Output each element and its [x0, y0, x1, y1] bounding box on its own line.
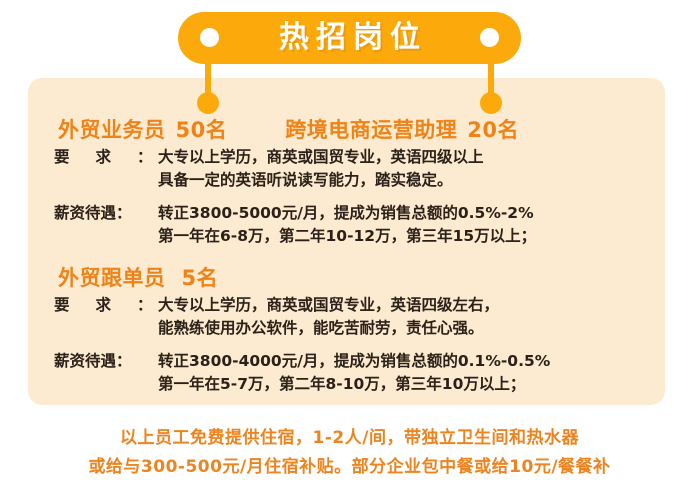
group-a-requirement-line-2: 具备一定的英语听说读写能力，踏实稳定。	[54, 169, 453, 192]
requirement-label-b: 要求：	[54, 294, 158, 317]
footer-line-2: 或给与300-500元/月住宿补贴。部分企业包中餐或给10元/餐餐补	[0, 453, 699, 482]
group-b-requirement-line-2: 能熟练使用办公软件，能吃苦耐劳，责任心强。	[54, 317, 484, 340]
salary-label-b-colon: ：	[116, 352, 132, 370]
salary-label-a-text: 薪资待遇	[54, 204, 116, 222]
group-a-salary-text-1: 转正3800-5000元/月，提成为销售总额的0.5%-2%	[158, 202, 534, 225]
group-a-requirement-text-2: 具备一定的英语听说读写能力，踏实稳定。	[54, 169, 453, 192]
group-b-salary-line-2: 第一年在5-7万，第二年8-10万，第三年10万以上；	[54, 373, 525, 396]
group-a-salary-text-2: 第一年在6-8万，第二年10-12万，第三年15万以上；	[54, 225, 536, 248]
salary-label-b: 薪资待遇：	[54, 350, 158, 373]
footer-notes: 以上员工免费提供住宿，1-2人/间，带独立卫生间和热水器 或给与300-500元…	[0, 424, 699, 482]
footer-line-1: 以上员工免费提供住宿，1-2人/间，带独立卫生间和热水器	[0, 424, 699, 453]
group-b-requirement-line-1: 要求：大专以上学历，商英或国贸专业，英语四级左右，	[54, 294, 499, 317]
job-title-1-name: 外贸业务员	[58, 118, 166, 142]
job-title-3-count: 5名	[182, 266, 219, 290]
salary-label-a-colon: ：	[116, 204, 132, 222]
group-b-salary-line-1: 薪资待遇：转正3800-4000元/月，提成为销售总额的0.1%-0.5%	[54, 350, 550, 373]
salary-label-b-text: 薪资待遇	[54, 352, 116, 370]
salary-label-a: 薪资待遇：	[54, 202, 158, 225]
group-b-salary-text-1: 转正3800-4000元/月，提成为销售总额的0.1%-0.5%	[158, 350, 550, 373]
requirement-label-a: 要求：	[54, 146, 158, 169]
req-label-char-1: 要	[54, 148, 96, 166]
group-a-salary-line-1: 薪资待遇：转正3800-5000元/月，提成为销售总额的0.5%-2%	[54, 202, 534, 225]
job-title-2-count: 20名	[467, 118, 519, 142]
jobs-container: 外贸业务员50名 跨境电商运营助理20名 要求：大专以上学历，商英或国贸专业，英…	[28, 78, 665, 405]
req-label-char-2: 求	[96, 148, 138, 166]
group-b-salary-text-2: 第一年在5-7万，第二年8-10万，第三年10万以上；	[54, 373, 525, 396]
req-label-b-char-1: 要	[54, 296, 96, 314]
banner-title: 热招岗位	[178, 21, 521, 55]
group-b-requirement-text-2: 能熟练使用办公软件，能吃苦耐劳，责任心强。	[54, 317, 484, 340]
job-title-2-name: 跨境电商运营助理	[285, 118, 457, 142]
group-a-requirement-line-1: 要求：大专以上学历，商英或国贸专业，英语四级以上	[54, 146, 484, 169]
job-title-3: 外贸跟单员5名	[58, 262, 218, 292]
group-b-requirement-text-1: 大专以上学历，商英或国贸专业，英语四级左右，	[158, 294, 499, 317]
job-title-1: 外贸业务员50名	[58, 114, 227, 144]
job-title-3-name: 外贸跟单员	[58, 266, 166, 290]
req-label-b-colon: ：	[137, 296, 153, 314]
req-label-b-char-2: 求	[96, 296, 138, 314]
group-a-salary-line-2: 第一年在6-8万，第二年10-12万，第三年15万以上；	[54, 225, 536, 248]
recruitment-poster: 热招岗位 外贸业务员50名 跨境电商运营助理20名 要求：大专以上学历，商英或国…	[0, 0, 699, 491]
req-label-colon: ：	[137, 148, 153, 166]
group-a-requirement-text-1: 大专以上学历，商英或国贸专业，英语四级以上	[158, 146, 484, 169]
job-headings-row: 外贸业务员50名 跨境电商运营助理20名	[58, 114, 519, 144]
header-banner: 热招岗位	[178, 12, 521, 64]
job-title-2: 跨境电商运营助理20名	[285, 114, 519, 144]
job-title-1-count: 50名	[176, 118, 228, 142]
